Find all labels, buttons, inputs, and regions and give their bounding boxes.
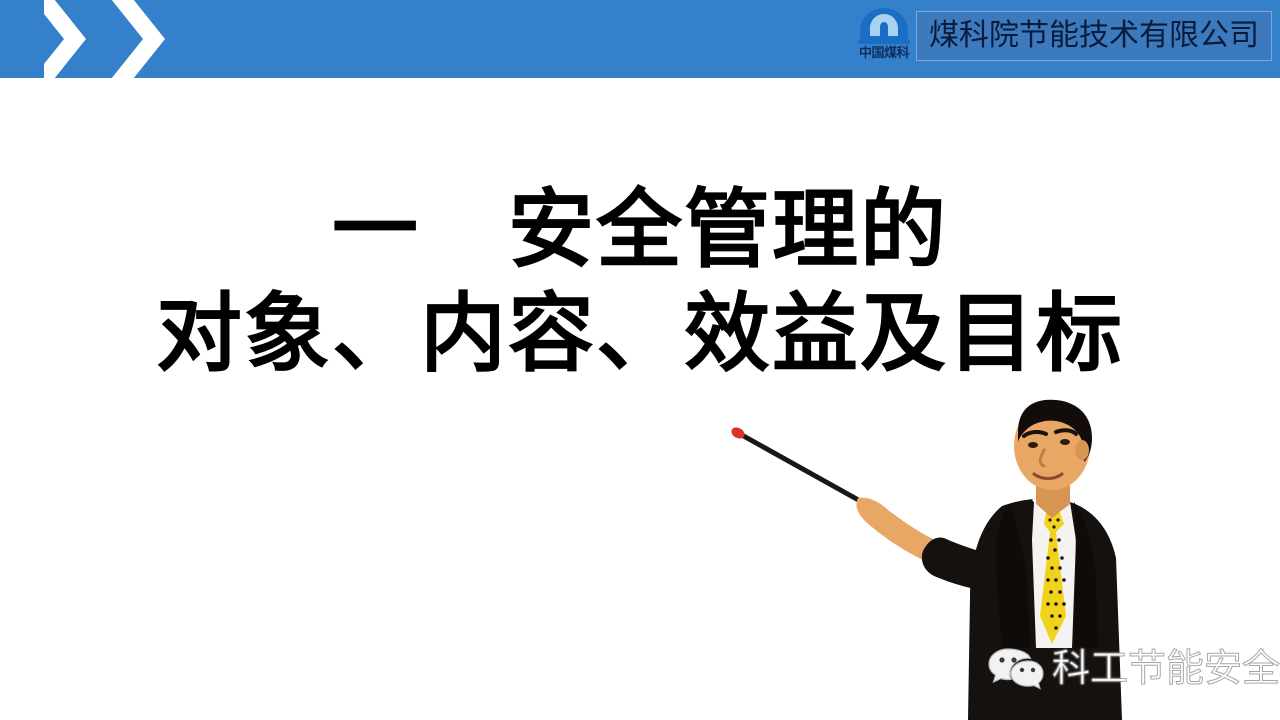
title-line-2: 对象、内容、效益及目标 [0,282,1280,386]
chevron-right-icon [99,0,177,78]
wechat-icon [988,645,1044,691]
coal-science-mark-icon [856,6,912,46]
slide: 中国煤科 煤科院节能技术有限公司 一 安全管理的 对象、内容、效益及目标 [0,0,1280,720]
logo-wordmark: 中国煤科 [848,46,920,62]
eye-right [1060,439,1070,445]
ear [1075,440,1089,460]
company-name-label: 煤科院节能技术有限公司 [929,19,1259,53]
eye-left [1028,442,1038,448]
company-name-textbox[interactable]: 煤科院节能技术有限公司 [916,11,1272,61]
pointer-stick [729,425,862,502]
chevron-decoration [44,0,184,78]
wechat-watermark: 科工节能安全 [988,640,1280,696]
watermark-label: 科工节能安全 [1052,646,1280,690]
page-title: 一 安全管理的 对象、内容、效益及目标 [0,178,1280,386]
title-line-1: 一 安全管理的 [0,178,1280,282]
company-logo: 中国煤科 [848,6,920,74]
header-bar: 中国煤科 煤科院节能技术有限公司 [0,0,1280,78]
